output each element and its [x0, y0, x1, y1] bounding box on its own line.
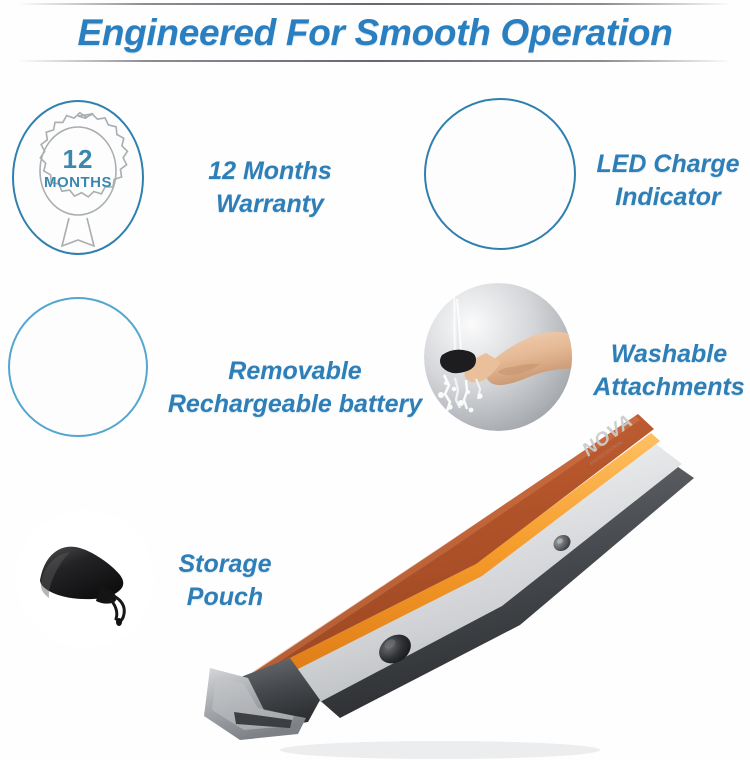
trimmer-product-photo: NOVA PROFESSIONAL	[190, 400, 750, 760]
warranty-label-line1: 12 Months	[208, 157, 332, 185]
warranty-badge-icon: 12 MONTHS	[12, 100, 144, 255]
washable-label: Washable Attachments	[588, 338, 750, 404]
badge-number: 12	[12, 144, 144, 175]
led-charge-label: LED Charge Indicator	[588, 148, 748, 214]
product-shadow	[280, 741, 600, 759]
trimmer-body-silver	[290, 444, 682, 702]
battery-label-line1: Removable	[228, 357, 361, 385]
storage-pouch-photo	[14, 508, 156, 650]
led-label-line2: Indicator	[615, 183, 721, 211]
infographic-page: Engineered For Smooth Operation 12 MONTH…	[0, 0, 750, 760]
badge-unit: MONTHS	[12, 174, 144, 191]
page-title: Engineered For Smooth Operation	[0, 8, 750, 58]
battery-icon-ring	[8, 297, 148, 437]
warranty-label: 12 Months Warranty	[170, 155, 370, 221]
rechargeable-battery-icon: 8 hrs 30 min	[8, 297, 148, 437]
divider-below-title	[18, 60, 732, 62]
washable-label-line1: Washable	[611, 340, 727, 368]
washable-label-line2: Attachments	[593, 373, 744, 401]
led-charge-indicator-icon	[424, 98, 576, 250]
divider-top	[18, 3, 732, 5]
led-label-line1: LED Charge	[596, 150, 739, 178]
led-icon-ring	[424, 98, 576, 250]
warranty-label-line2: Warranty	[216, 190, 324, 218]
